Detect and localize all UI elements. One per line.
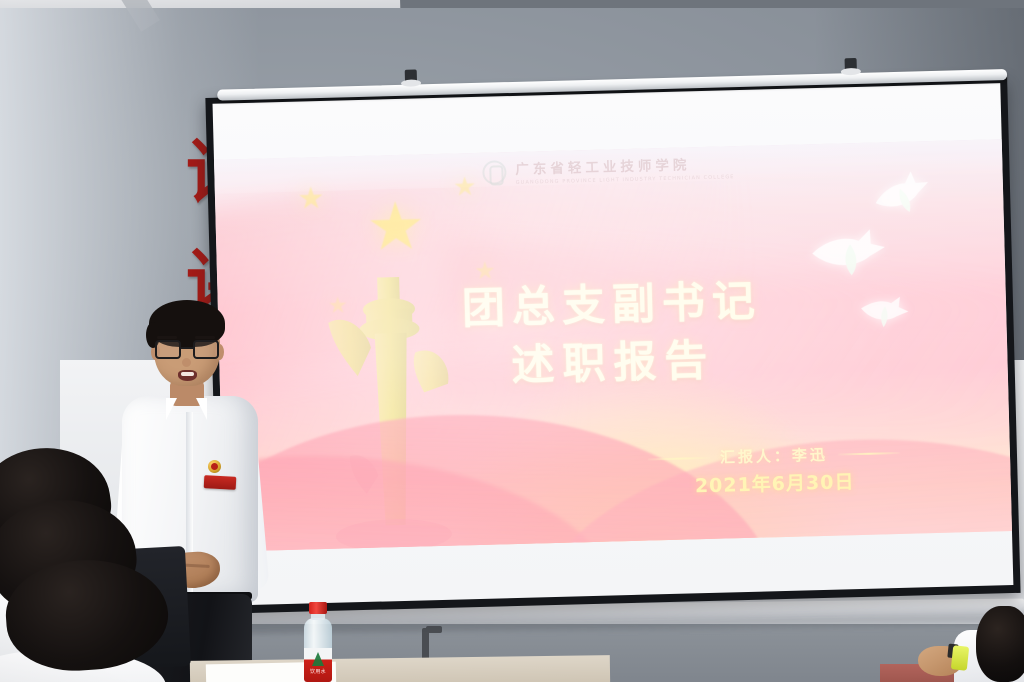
screen-mount-clip-right [845,58,857,72]
projector-screen-assembly: ★ ★ ★ ★ ★ [205,63,1019,614]
presenter-brow-right [195,336,215,339]
presenter-brow-left [157,336,177,339]
water-bottle: 饮用水 [300,602,336,682]
bottle-cap [309,602,327,614]
slide-title-block: 团总支副书记 述职报告 [217,267,1008,403]
glasses-lens-right [193,340,219,359]
presentation-slide: ★ ★ ★ ★ ★ [214,139,1012,551]
audience-member-3 [6,560,196,682]
college-name-block: 广东省轻工业技师学院 GUANGDONG PROVINCE LIGHT INDU… [515,152,735,186]
college-crest-icon [482,160,507,185]
slide-date: 2021年6月30日 [695,471,855,497]
audience-hair [2,554,171,675]
screen-mount-clip-left [405,69,417,83]
photo-scene: 讲 讲 ★ ★ ★ ★ ★ [0,0,1024,682]
glasses-icon [155,340,219,359]
rule-right [838,451,900,455]
slide-presenter-label: 汇报人：李迅 [720,444,829,468]
presenter-mouth [178,370,197,381]
star-glyph: ★ [474,258,496,283]
bottle-label-text: 饮用水 [304,668,332,675]
ledge-bracket-arm [426,626,442,633]
screen-frame: ★ ★ ★ ★ ★ [205,77,1020,614]
presenter-nose [182,358,191,367]
screen-surface: ★ ★ ★ ★ ★ [213,83,1014,605]
glasses-lens-left [155,340,181,359]
lapel-pin-icon [208,460,221,473]
audience-hair [976,606,1024,682]
bottle-neck [311,613,325,620]
wristband [951,645,969,671]
rule-left [648,456,710,460]
name-badge [204,475,237,490]
presenter-collar-left [166,398,177,420]
presenter-collar-right [196,398,207,420]
audience-member-right [900,612,1024,682]
glasses-bridge [181,347,193,349]
